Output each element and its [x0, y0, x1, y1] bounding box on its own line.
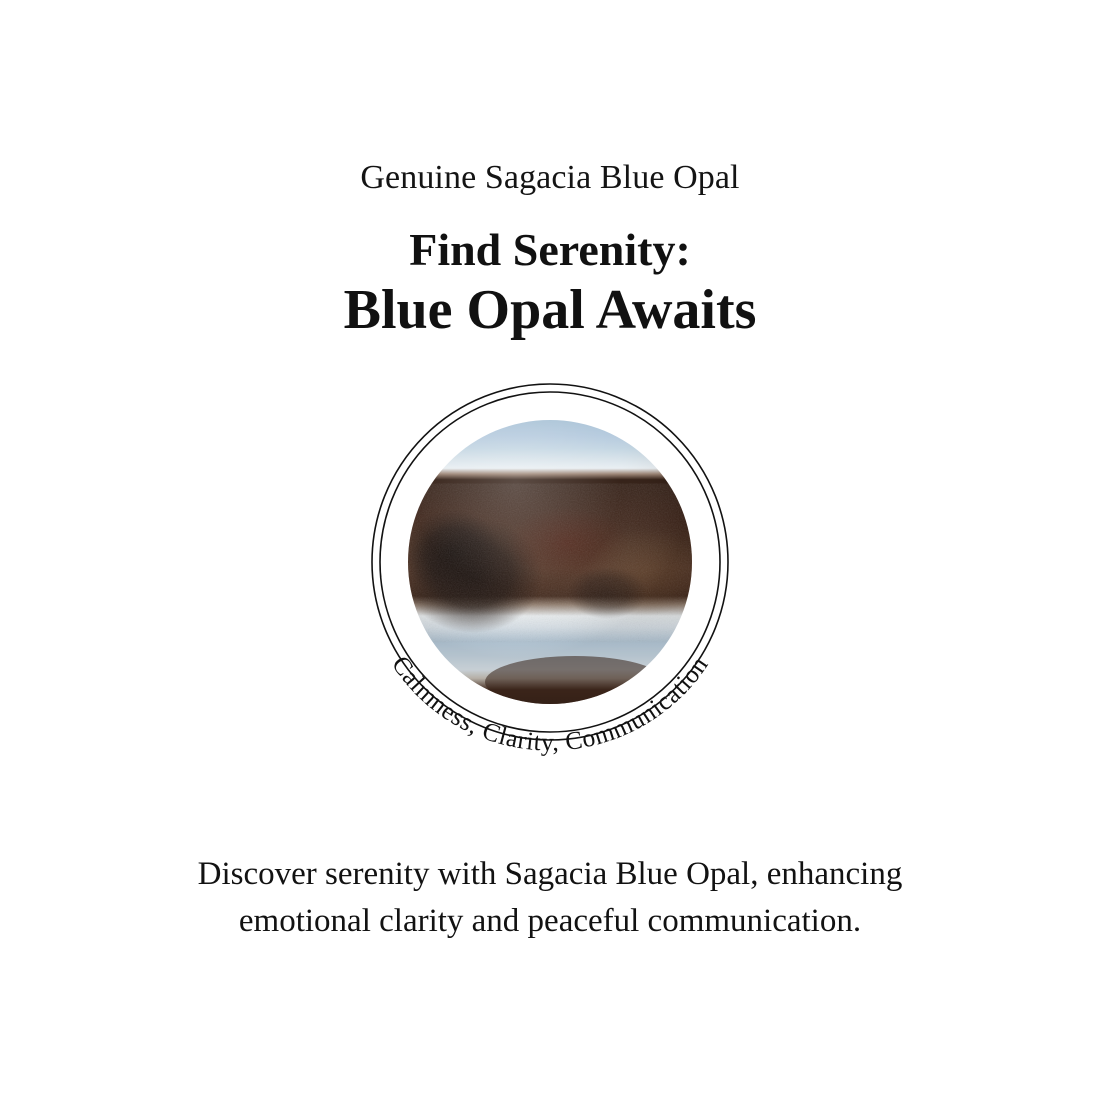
body-copy-line-1: Discover serenity with Sagacia Blue Opal… [0, 851, 1100, 898]
headline-line-2: Blue Opal Awaits [344, 278, 757, 343]
emblem-svg: Calmness, Clarity, Communication [345, 357, 755, 767]
body-copy: Discover serenity with Sagacia Blue Opal… [0, 851, 1100, 945]
promo-card: Genuine Sagacia Blue Opal Find Serenity:… [0, 0, 1100, 1100]
eyebrow-text: Genuine Sagacia Blue Opal [360, 158, 739, 198]
body-copy-line-2: emotional clarity and peaceful communica… [0, 898, 1100, 945]
page-title: Find Serenity: Blue Opal Awaits [344, 224, 757, 342]
headline-line-1: Find Serenity: [344, 224, 757, 276]
gem-image [403, 420, 703, 708]
